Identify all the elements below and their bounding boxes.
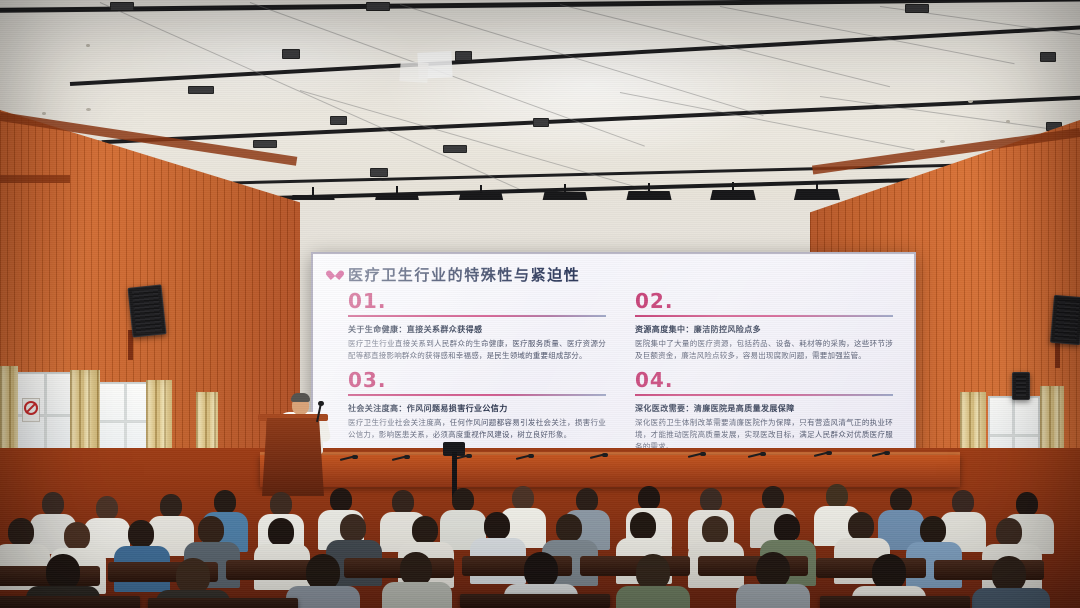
section-number: 01. xyxy=(348,291,606,311)
attendee-head xyxy=(890,488,912,512)
wall-speaker xyxy=(1050,295,1080,345)
ceiling-vent xyxy=(443,145,467,153)
attendee-head xyxy=(826,484,848,508)
chair-back xyxy=(580,556,690,576)
bench-row xyxy=(148,598,298,608)
ceiling-vent xyxy=(370,168,388,177)
section-number: 02. xyxy=(635,291,893,311)
section-number: 04. xyxy=(635,370,893,390)
bench-row xyxy=(460,594,610,608)
attendee-head xyxy=(392,490,414,514)
ceiling-vent xyxy=(253,140,277,148)
audience-area xyxy=(0,470,1080,608)
attendee-head xyxy=(630,512,656,540)
section-subtitle: 资源高度集中：廉洁防控风险点多 xyxy=(635,324,893,335)
attendee-head xyxy=(160,494,182,518)
slide-title: 医疗卫生行业的特殊性与紧迫性 xyxy=(348,264,580,285)
attendee-head xyxy=(270,492,292,516)
attendee-head xyxy=(400,552,432,586)
chair-back xyxy=(344,558,454,578)
attendee-head xyxy=(638,486,660,510)
attendee-head xyxy=(702,516,728,544)
slide-title-row: 医疗卫生行业的特殊性与紧迫性 xyxy=(330,264,580,285)
bench-row xyxy=(820,596,970,608)
attendee-body xyxy=(616,586,690,608)
attendee-head xyxy=(512,486,534,510)
section-subtitle: 关于生命健康：直接关系群众获得感 xyxy=(348,324,606,335)
wall-speaker xyxy=(127,284,166,337)
slide-section-02: 02. 资源高度集中：廉洁防控风险点多 医院集中了大量的医疗资源，包括药品、设备… xyxy=(635,291,893,362)
ceiling-vent xyxy=(533,118,549,127)
section-rule xyxy=(635,394,893,396)
attendee-head xyxy=(306,554,340,590)
attendee-head xyxy=(636,554,670,590)
attendee-head xyxy=(756,552,790,588)
attendee-head xyxy=(774,514,800,542)
section-number: 03. xyxy=(348,370,606,390)
attendee-head xyxy=(340,514,366,542)
ceiling-vent xyxy=(1040,52,1056,62)
attendee-head xyxy=(42,492,64,516)
section-rule xyxy=(348,394,606,396)
attendee-head xyxy=(330,488,352,512)
ceiling-vent xyxy=(455,51,472,61)
section-subtitle: 社会关注度高：作风问题易损害行业公信力 xyxy=(348,403,606,414)
presenter-hair xyxy=(291,393,310,402)
wall-speaker xyxy=(1012,372,1030,400)
attendee-head xyxy=(8,518,34,546)
attendee-head xyxy=(96,496,118,520)
section-body: 医疗卫生行业社会关注度高，任何作风问题都容易引发社会关注，损害行业公信力，影响医… xyxy=(348,417,606,441)
attendee-body xyxy=(972,588,1050,608)
attendee-head xyxy=(762,486,784,510)
no-smoking-sign xyxy=(22,398,40,422)
attendee-head xyxy=(412,516,438,544)
attendee-head xyxy=(524,552,558,588)
chair-back xyxy=(934,560,1044,580)
section-rule xyxy=(348,315,606,317)
ceiling-vent xyxy=(110,2,134,11)
conference-hall-photo: 医疗卫生行业的特殊性与紧迫性 01. 关于生命健康：直接关系群众获得感 医疗卫生… xyxy=(0,0,1080,608)
attendee-head xyxy=(848,512,874,540)
section-subtitle: 深化医改需要：清廉医院是高质量发展保障 xyxy=(635,403,893,414)
attendee-head xyxy=(556,514,582,542)
attendee-body xyxy=(382,582,452,608)
ceiling-vent xyxy=(282,49,300,59)
attendee-head xyxy=(176,558,210,594)
slide-surface: 医疗卫生行业的特殊性与紧迫性 01. 关于生命健康：直接关系群众获得感 医疗卫生… xyxy=(313,254,914,462)
attendee-head xyxy=(992,556,1026,592)
attendee-head xyxy=(1016,492,1038,516)
section-rule xyxy=(635,315,893,317)
section-body: 医院集中了大量的医疗资源，包括药品、设备、耗材等的采购，这些环节涉及巨额资金，廉… xyxy=(635,338,893,362)
slide-section-04: 04. 深化医改需要：清廉医院是高质量发展保障 深化医药卫生体制改革需要清廉医院… xyxy=(635,370,893,453)
attendee-head xyxy=(128,520,154,548)
projection-screen: 医疗卫生行业的特殊性与紧迫性 01. 关于生命健康：直接关系群众获得感 医疗卫生… xyxy=(311,252,916,464)
section-body: 医疗卫生行业直接关系到人民群众的生命健康，医疗服务质量、医疗资源分配等都直接影响… xyxy=(348,338,606,362)
chair-back xyxy=(816,558,926,578)
ceiling-vent xyxy=(188,86,214,94)
heart-icon xyxy=(330,269,341,280)
attendee-head xyxy=(268,518,294,546)
attendee-head xyxy=(46,554,80,590)
chair-back xyxy=(698,556,808,576)
attendee-head xyxy=(872,554,906,590)
attendee-body xyxy=(736,584,810,608)
attendee-head xyxy=(576,488,598,512)
slide-section-01: 01. 关于生命健康：直接关系群众获得感 医疗卫生行业直接关系到人民群众的生命健… xyxy=(348,291,606,362)
ceiling-vent xyxy=(366,2,390,11)
attendee-head xyxy=(700,488,722,512)
attendee-head xyxy=(64,522,90,550)
ceiling-vent xyxy=(330,116,347,125)
attendee-head xyxy=(952,490,974,514)
slide-section-03: 03. 社会关注度高：作风问题易损害行业公信力 医疗卫生行业社会关注度高，任何作… xyxy=(348,370,606,441)
attendee-head xyxy=(920,516,946,544)
ceiling-vent xyxy=(905,4,929,13)
attendee-head xyxy=(996,518,1022,546)
attendee-head xyxy=(214,490,236,514)
attendee-head xyxy=(484,512,510,540)
bench-row xyxy=(0,596,140,608)
attendee-head xyxy=(198,516,224,544)
attendee-head xyxy=(452,488,474,512)
